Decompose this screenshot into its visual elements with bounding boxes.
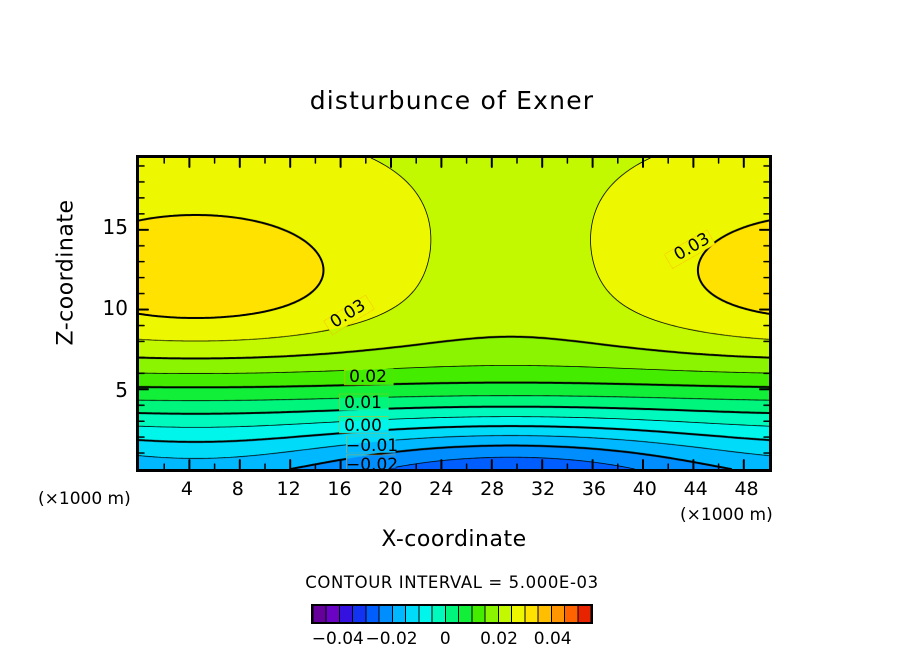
x-tick-label: 16	[315, 478, 365, 500]
contour-label: 0.00	[339, 416, 387, 436]
contour-interval-caption: CONTOUR INTERVAL = 5.000E-03	[0, 573, 904, 592]
x-tick-label: 24	[416, 478, 466, 500]
x-tick-label: 32	[518, 478, 568, 500]
y-tick-label: 5	[88, 378, 128, 402]
x-tick-label: 28	[467, 478, 517, 500]
x-tick-label: 36	[569, 478, 619, 500]
contour-label: −0.01	[346, 436, 394, 456]
x-tick-label: 8	[213, 478, 263, 500]
x-axis-title: X-coordinate	[136, 527, 772, 552]
contour-plot-figure: disturbunce of Exner Z-coordinate X-coor…	[0, 0, 904, 654]
contour-field-canvas	[139, 158, 769, 469]
plot-area	[136, 155, 772, 472]
y-axis-title: Z-coordinate	[54, 178, 79, 368]
x-tick-label: 44	[671, 478, 721, 500]
colorbar-canvas	[313, 606, 591, 622]
contour-label: 0.01	[339, 393, 387, 413]
contour-label: 0.02	[344, 367, 392, 387]
x-tick-label: 4	[162, 478, 212, 500]
x-tick-label: 12	[264, 478, 314, 500]
x-tick-label: 48	[722, 478, 772, 500]
colorbar-tick-label: 0.04	[518, 629, 588, 649]
page-title: disturbunce of Exner	[0, 86, 904, 115]
colorbar	[311, 604, 593, 624]
x-axis-unit-label: (×1000 m)	[680, 505, 773, 525]
x-tick-label: 40	[620, 478, 670, 500]
y-tick-label: 15	[88, 215, 128, 239]
y-axis-unit-label: (×1000 m)	[38, 489, 131, 509]
x-tick-label: 20	[365, 478, 415, 500]
contour-label: −0.02	[346, 455, 394, 475]
y-tick-label: 10	[88, 296, 128, 320]
